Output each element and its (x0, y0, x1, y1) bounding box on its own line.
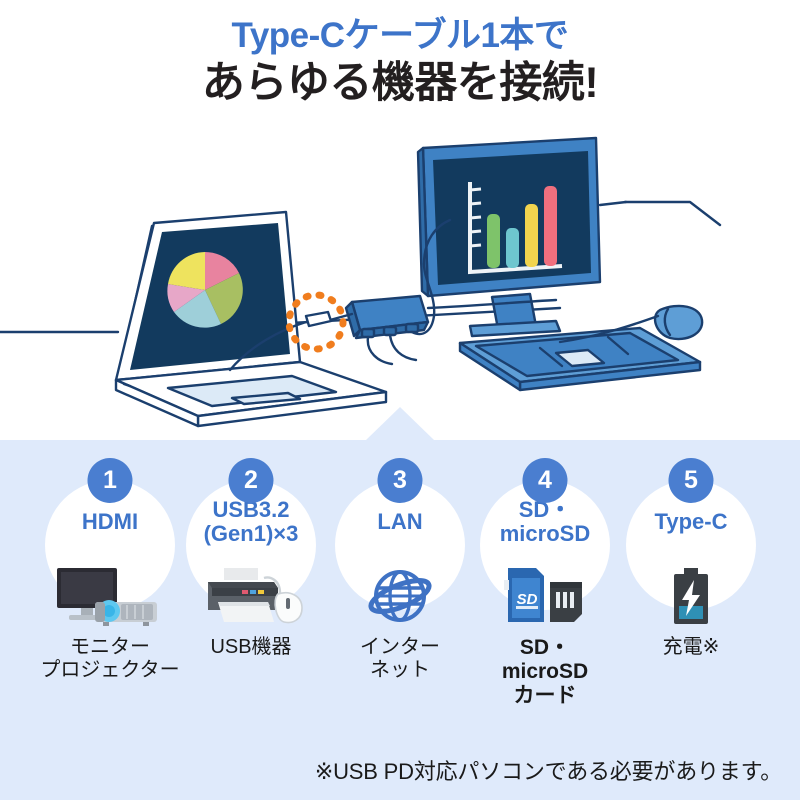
features-panel: 1 HDMI (0, 440, 800, 800)
svg-text:SD: SD (517, 591, 538, 608)
feature-list: 1 HDMI (0, 458, 800, 748)
feature-number-badge: 2 (229, 458, 274, 503)
battery-charging-icon (621, 566, 761, 628)
footnote-text: ※USB PD対応パソコンである必要があります。 (315, 754, 782, 786)
feature-title: Type-C (611, 510, 771, 534)
monitor-projector-icon (40, 566, 180, 628)
panel-notch-arrow (366, 407, 434, 440)
feature-title: USB3.2 (Gen1)×3 (171, 498, 331, 546)
feature-title: SD・ microSD (465, 498, 625, 546)
feature-caption: 充電※ (604, 636, 779, 659)
headline-block: Type-Cケーブル1本で あらゆる機器を接続! (0, 0, 800, 135)
feature-number-badge: 4 (523, 458, 568, 503)
feature-number-badge: 3 (378, 458, 423, 503)
printer-mouse-icon (181, 566, 321, 628)
feature-number-badge: 1 (88, 458, 133, 503)
feature-title: HDMI (30, 510, 190, 534)
feature-number-badge: 5 (669, 458, 714, 503)
desk-setup-illustration: .ln { fill:none; stroke:#1b3f6e; stroke-… (0, 130, 800, 440)
feature-title: LAN (320, 510, 480, 534)
headline-line-2: あらゆる機器を接続! (0, 58, 800, 109)
headline-line-1: Type-Cケーブル1本で (0, 16, 800, 56)
sd-microsd-card-icon: SD (475, 566, 615, 628)
laptop-pie-chart (167, 252, 242, 328)
globe-icon (330, 566, 470, 628)
